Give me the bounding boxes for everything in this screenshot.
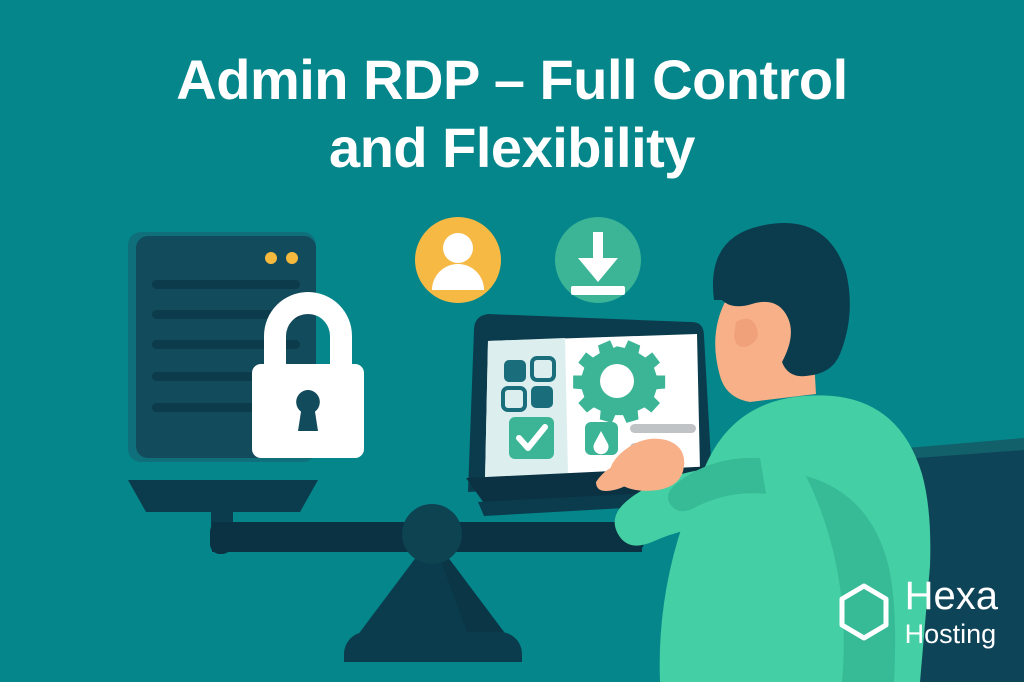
page-title: Admin RDP – Full Control and Flexibility xyxy=(0,46,1024,183)
content-line-1 xyxy=(630,424,696,433)
brand-logo[interactable]: Hexa Hosting xyxy=(837,576,998,648)
download-badge xyxy=(555,217,641,303)
checkmark-tile-bg xyxy=(509,417,554,459)
hexagon-outline-icon xyxy=(837,583,891,641)
padlock-keyhole xyxy=(296,390,320,431)
screen-sidebar xyxy=(485,338,568,481)
brand-logo-text: Hexa Hosting xyxy=(905,576,998,648)
scale-pivot-knob xyxy=(402,504,462,564)
brand-name-line2: Hosting xyxy=(905,621,998,648)
server-status-dot-1 xyxy=(265,252,277,264)
user-badge xyxy=(415,217,501,303)
download-icon-tray xyxy=(571,286,625,295)
scale-base xyxy=(344,632,522,662)
server-status-dot-2 xyxy=(286,252,298,264)
gear-hole xyxy=(600,364,634,398)
user-icon-head xyxy=(443,233,473,263)
app-grid-tile-1 xyxy=(504,360,526,382)
banner-root: Admin RDP – Full Control and Flexibility… xyxy=(0,0,1024,682)
scale-beam-left-cap xyxy=(210,522,232,554)
brand-name-line1: Hexa xyxy=(905,576,998,616)
screen-checkmark-tile xyxy=(509,417,554,459)
app-grid-tile-4 xyxy=(531,386,553,408)
